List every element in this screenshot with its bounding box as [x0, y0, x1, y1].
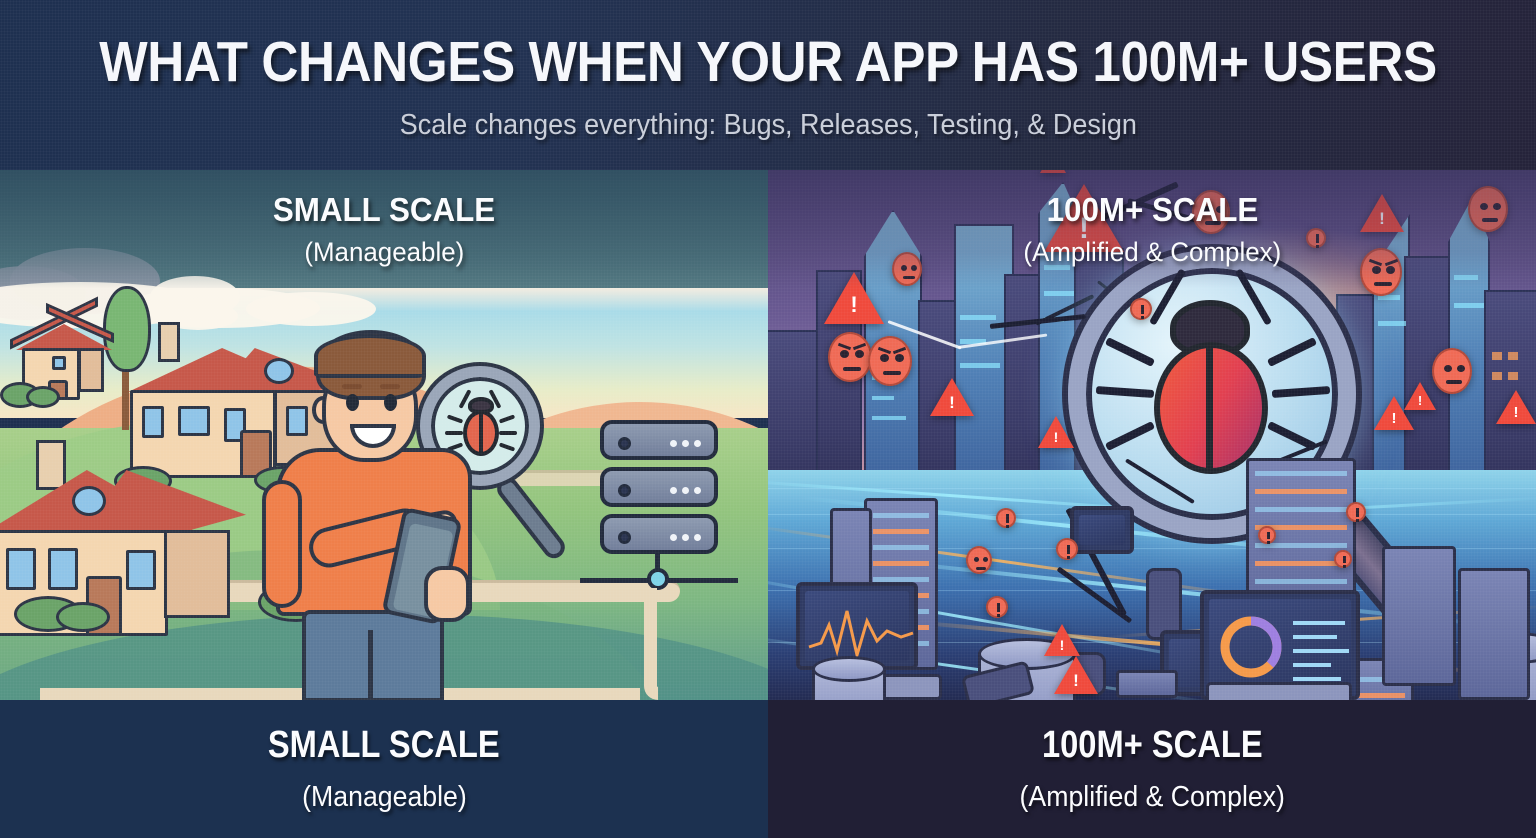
- alert-badge-icon: [1056, 538, 1078, 560]
- person-eyebrow: [380, 384, 400, 389]
- network-node-icon: [647, 568, 669, 590]
- poster-root: WHAT CHANGES WHEN YOUR APP HAS 100M+ USE…: [0, 0, 1536, 838]
- panel-header-small-scale: SMALL SCALE (Manageable): [0, 170, 768, 288]
- window-light: [1044, 291, 1074, 296]
- bush: [56, 602, 110, 632]
- server-tower: [1458, 568, 1530, 700]
- footer-caption-small-scale: SMALL SCALE (Manageable): [0, 700, 768, 838]
- window-light: [960, 315, 996, 320]
- monitor-small: [1070, 506, 1134, 554]
- angry-face-icon: [828, 332, 872, 382]
- window-light: [960, 363, 1000, 368]
- footer-title: 100M+ SCALE: [1042, 724, 1263, 767]
- illustration-stage: SMALL SCALE (Manageable): [0, 170, 1536, 700]
- person-hand-holding: [424, 566, 470, 622]
- panel-header-100m-scale: 100M+ SCALE (Amplified & Complex): [768, 170, 1536, 288]
- warning-icon: !: [1374, 396, 1414, 430]
- person-arm-left: [262, 480, 302, 608]
- window-light: [1378, 321, 1406, 326]
- server-tower: [1382, 546, 1456, 686]
- warning-icon: !: [1044, 624, 1080, 656]
- footer-bar: SMALL SCALE (Manageable) 100M+ SCALE (Am…: [0, 700, 1536, 838]
- person-hair-front: [314, 334, 426, 378]
- window-light: [1508, 372, 1518, 380]
- database-stack: [812, 656, 886, 700]
- panel-100m-scale: ! ! ! ! ! ! ! ! ! ! !: [768, 170, 1536, 700]
- keyboard-icon: [1206, 682, 1352, 700]
- footer-subtitle: (Manageable): [302, 781, 467, 814]
- alert-badge-icon: [1334, 550, 1352, 568]
- alert-badge-icon: [1258, 526, 1276, 544]
- bush: [26, 386, 60, 408]
- bug-large-icon: [1142, 292, 1282, 482]
- title-bar: WHAT CHANGES WHEN YOUR APP HAS 100M+ USE…: [0, 0, 1536, 170]
- panel-title: 100M+ SCALE: [1046, 191, 1258, 229]
- window-light: [1508, 352, 1518, 360]
- angry-face-icon: [868, 336, 912, 386]
- person-legs: [302, 610, 444, 700]
- alert-badge-icon: [1346, 502, 1366, 522]
- warning-icon: !: [1038, 416, 1074, 448]
- person-eye: [346, 394, 359, 411]
- footer-title: SMALL SCALE: [268, 724, 500, 767]
- angry-face-icon: [1432, 348, 1472, 394]
- alert-badge-icon: [1130, 298, 1152, 320]
- warning-icon: !: [1054, 656, 1098, 694]
- window-light: [872, 416, 906, 420]
- page-subtitle: Scale changes everything: Bugs, Releases…: [399, 109, 1136, 142]
- page-title: WHAT CHANGES WHEN YOUR APP HAS 100M+ USE…: [99, 34, 1436, 91]
- window-light: [1492, 352, 1502, 360]
- panel-subtitle: (Manageable): [304, 237, 464, 268]
- alert-badge-icon: [986, 596, 1008, 618]
- panel-title: SMALL SCALE: [273, 191, 495, 229]
- window-light: [1492, 372, 1502, 380]
- footer-subtitle: (Amplified & Complex): [1019, 781, 1284, 814]
- panel-subtitle: (Amplified & Complex): [1023, 237, 1281, 268]
- warning-icon: !: [1496, 390, 1536, 424]
- server-unit: [600, 420, 718, 460]
- alert-badge-icon: [996, 508, 1016, 528]
- person-eye: [384, 394, 397, 411]
- server-unit: [600, 467, 718, 507]
- server-unit: [600, 514, 718, 554]
- person-illustration: [264, 330, 484, 700]
- network-cable: [644, 588, 658, 700]
- panel-small-scale: SMALL SCALE (Manageable): [0, 170, 768, 700]
- warning-icon: !: [930, 378, 974, 416]
- sad-face-icon: [966, 546, 992, 574]
- window-light: [872, 396, 894, 400]
- footer-caption-100m-scale: 100M+ SCALE (Amplified & Complex): [768, 700, 1536, 838]
- network-switch: [1116, 670, 1178, 698]
- server-stack-icon: [600, 420, 718, 554]
- person-eyebrow: [342, 384, 362, 389]
- window-light: [1454, 303, 1484, 308]
